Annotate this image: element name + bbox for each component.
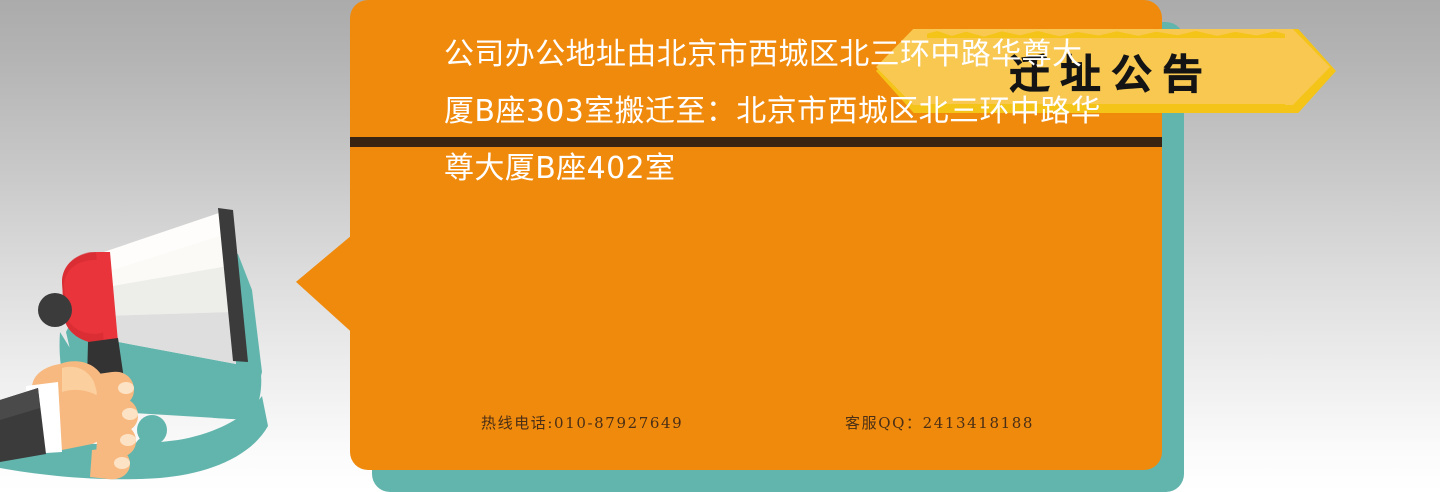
announcement-body-text: 公司办公地址由北京市西城区北三环中路华尊大厦B座303室搬迁至：北京市西城区北三… — [444, 26, 1104, 197]
hand-holding-megaphone-icon — [0, 182, 330, 492]
megaphone-cone — [98, 212, 236, 364]
footer-contact-bar: 热线电话:010-87927649 客服QQ：2413418188 — [350, 405, 1162, 439]
announcement-card: 迁址公告 公司办公地址由北京市西城区北三环中路华尊大厦B座303室搬迁至：北京市… — [350, 0, 1162, 470]
hotline-phone-text: 热线电话:010-87927649 — [481, 412, 683, 433]
megaphone-collar — [62, 252, 118, 344]
announcement-banner-stage: 迁址公告 公司办公地址由北京市西城区北三环中路华尊大厦B座303室搬迁至：北京市… — [0, 0, 1440, 492]
customer-service-qq-text: 客服QQ：2413418188 — [845, 412, 1034, 433]
megaphone-nub-icon — [38, 293, 72, 327]
